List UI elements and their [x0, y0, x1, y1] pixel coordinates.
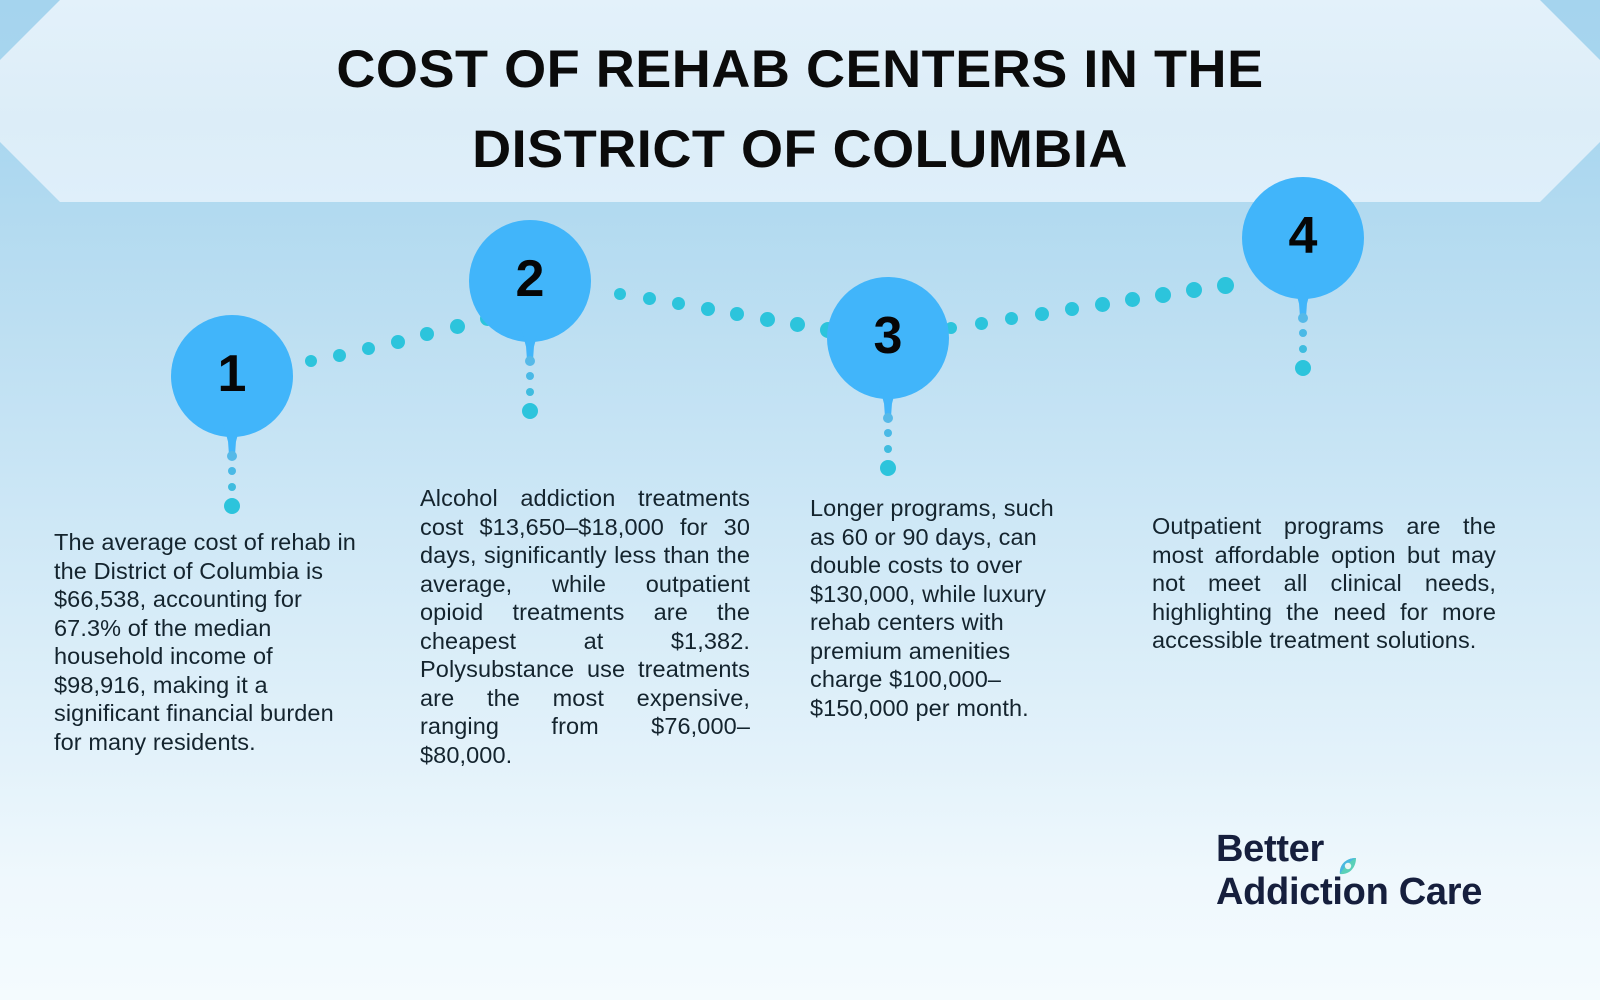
- step-tail-dot-3b: [884, 445, 892, 453]
- step-tail-dot-4b: [1299, 345, 1307, 353]
- leaf-icon: [1337, 844, 1359, 866]
- step-neck-tip-3: [883, 413, 893, 423]
- step-neck-tip-2: [525, 356, 535, 366]
- brand-logo-text-2: Addiction Care: [1216, 871, 1482, 913]
- step-number-3: 3: [874, 310, 903, 362]
- step-tail-dot-2c: [522, 403, 538, 419]
- brand-logo-text-1: Better: [1216, 828, 1324, 870]
- infographic-canvas: COST OF REHAB CENTERS IN THE DISTRICT OF…: [0, 0, 1600, 1000]
- step-circle-3[interactable]: 3: [827, 277, 949, 399]
- step-number-4: 4: [1289, 210, 1318, 262]
- step-body-3: Longer programs, such as 60 or 90 days, …: [810, 494, 1060, 722]
- step-tail-dot-2b: [526, 388, 534, 396]
- step-circle-2[interactable]: 2: [469, 220, 591, 342]
- step-tail-dot-3a: [884, 429, 892, 437]
- step-body-1: The average cost of rehab in the Distric…: [54, 528, 366, 756]
- step-tail-dot-2a: [526, 372, 534, 380]
- step-neck-tip-4: [1298, 313, 1308, 323]
- step-neck-tip-1: [227, 451, 237, 461]
- brand-logo-line-2: Addiction Care: [1216, 871, 1486, 914]
- step-tail-dot-4a: [1299, 329, 1307, 337]
- step-number-1: 1: [218, 348, 247, 400]
- step-tail-dot-4c: [1295, 360, 1311, 376]
- brand-logo[interactable]: Better Addiction Care: [1216, 828, 1486, 914]
- step-body-2: Alcohol addiction treatments cost $13,65…: [420, 484, 750, 769]
- step-number-2: 2: [516, 253, 545, 305]
- step-tail-dot-3c: [880, 460, 896, 476]
- step-circle-4[interactable]: 4: [1242, 177, 1364, 299]
- step-tail-dot-1a: [228, 467, 236, 475]
- step-circle-1[interactable]: 1: [171, 315, 293, 437]
- step-tail-dot-1b: [228, 483, 236, 491]
- brand-logo-line-1: Better: [1216, 828, 1486, 871]
- step-tail-dot-1c: [224, 498, 240, 514]
- header-banner: [0, 0, 1600, 202]
- step-body-4: Outpatient programs are the most afforda…: [1152, 512, 1496, 655]
